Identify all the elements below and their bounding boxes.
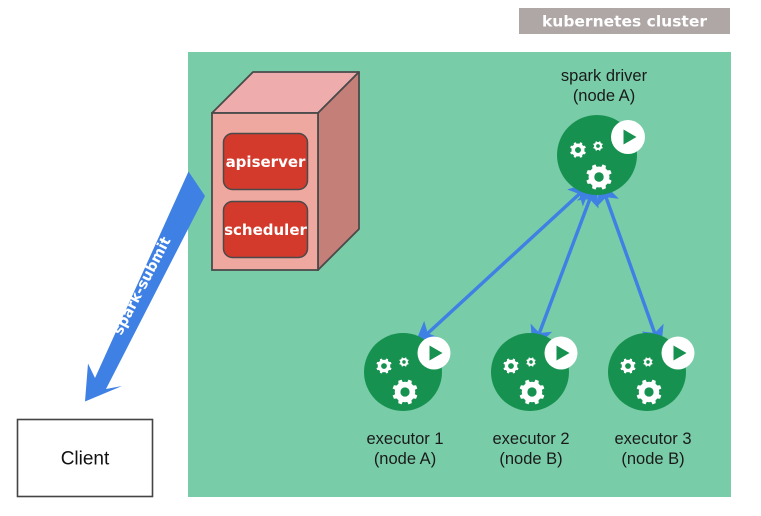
play-icon [545, 337, 578, 370]
client-box: Client [18, 420, 153, 497]
play-icon [611, 120, 645, 154]
cluster-title-label: kubernetes cluster [542, 13, 707, 31]
client-label: Client [61, 449, 110, 470]
spark-submit-arrow: spark-submit [85, 172, 205, 402]
play-icon [662, 337, 695, 370]
executor-1-subtitle: (node A) [374, 450, 436, 468]
apiserver-component: apiserver [224, 134, 308, 190]
control-plane-cube: apiserver scheduler [212, 72, 359, 270]
executor-1-title: executor 1 [366, 430, 443, 448]
executor-2-subtitle: (node B) [499, 450, 562, 468]
scheduler-component: scheduler [224, 202, 308, 258]
spark-submit-label: spark-submit [110, 235, 174, 338]
cluster-title-bar: kubernetes cluster [519, 8, 730, 34]
apiserver-label: apiserver [226, 153, 306, 171]
executor-2-title: executor 2 [492, 430, 569, 448]
spark-driver-title: spark driver [561, 67, 648, 85]
diagram-canvas: kubernetes cluster spark-submit Client a… [0, 0, 761, 516]
spark-driver-subtitle: (node A) [573, 87, 635, 105]
executor-3-subtitle: (node B) [621, 450, 684, 468]
executor-3-title: executor 3 [614, 430, 691, 448]
scheduler-label: scheduler [224, 221, 307, 239]
play-icon [418, 337, 451, 370]
